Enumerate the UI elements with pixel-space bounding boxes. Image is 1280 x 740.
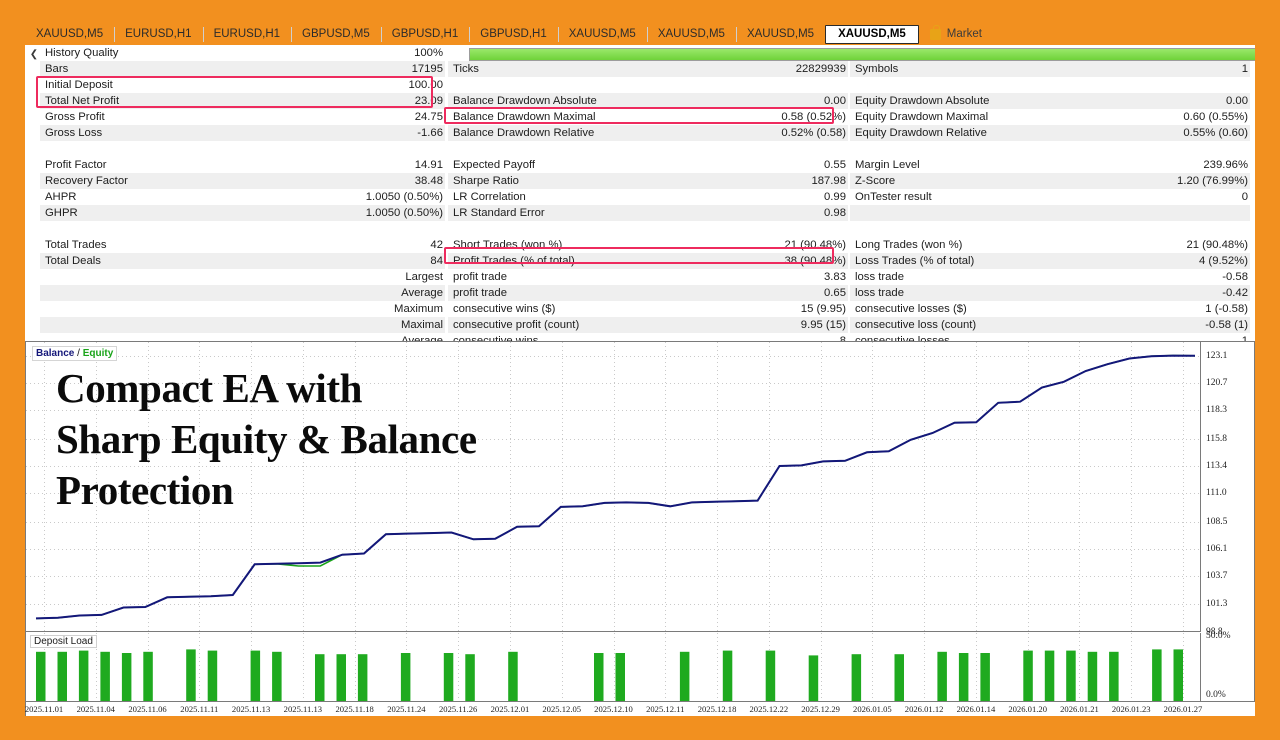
x-axis-tick: 2025.12.10 bbox=[594, 704, 633, 714]
x-axis-tick: 2025.11.24 bbox=[387, 704, 425, 714]
report-row-value: -0.42 bbox=[1222, 285, 1248, 301]
report-row-label: Loss Trades (% of total) bbox=[855, 253, 974, 269]
collapse-panel-icon[interactable]: ❮ bbox=[29, 49, 39, 61]
deposit-load-plot[interactable]: Deposit Load bbox=[26, 633, 1201, 701]
x-axis-tick: 2025.11.04 bbox=[77, 704, 115, 714]
report-row-label: Balance Drawdown Relative bbox=[453, 125, 594, 141]
x-axis-tick: 2025.11.13 bbox=[232, 704, 270, 714]
report-row-value: Maximal bbox=[401, 317, 443, 333]
report-row-value: 4 (9.52%) bbox=[1199, 253, 1248, 269]
report-row-value: 0.00 bbox=[1226, 93, 1248, 109]
report-row-label: consecutive wins bbox=[453, 333, 538, 341]
report-row-label: Total Deals bbox=[45, 253, 101, 269]
report-row-spacer bbox=[850, 45, 1250, 61]
x-axis-tick: 2025.12.01 bbox=[491, 704, 530, 714]
report-row-value: 239.96% bbox=[1203, 157, 1248, 173]
report-row: loss trade-0.58 bbox=[850, 269, 1250, 285]
report-row-label: Long Trades (won %) bbox=[855, 237, 962, 253]
report-row-label: Equity Drawdown Absolute bbox=[855, 93, 989, 109]
report-row-value: -1.66 bbox=[417, 125, 443, 141]
x-axis-tick: 2025.12.11 bbox=[646, 704, 684, 714]
report-row-spacer bbox=[850, 77, 1250, 93]
tab-8[interactable]: XAUUSD,M5 bbox=[736, 25, 825, 44]
report-row-label: consecutive profit (count) bbox=[453, 317, 579, 333]
report-row-label: Total Trades bbox=[45, 237, 107, 253]
report-row: consecutive loss (count)-0.58 (1) bbox=[850, 317, 1250, 333]
report-row: Recovery Factor38.48 bbox=[40, 173, 445, 189]
report-row-value: 0.99 bbox=[824, 189, 846, 205]
report-row: consecutive losses ($)1 (-0.58) bbox=[850, 301, 1250, 317]
tab-0[interactable]: XAUUSD,M5 bbox=[25, 25, 114, 44]
report-row: Expected Payoff0.55 bbox=[448, 157, 848, 173]
report-row: Maximal bbox=[40, 317, 445, 333]
report-row-value: 1.0050 (0.50%) bbox=[366, 189, 443, 205]
report-row-value: 0.55% (0.60) bbox=[1183, 125, 1248, 141]
report-row-label: Recovery Factor bbox=[45, 173, 128, 189]
report-row: LR Correlation0.99 bbox=[448, 189, 848, 205]
y-axis-tick: 108.5 bbox=[1206, 517, 1227, 527]
report-row: History Quality100% bbox=[40, 45, 445, 61]
report-row-label: Symbols bbox=[855, 61, 898, 77]
report-row: consecutive wins ($)15 (9.95) bbox=[448, 301, 848, 317]
report-row-label: Gross Loss bbox=[45, 125, 102, 141]
report-row-value: 0 bbox=[1242, 189, 1248, 205]
report-row: Loss Trades (% of total)4 (9.52%) bbox=[850, 253, 1250, 269]
y-axis-tick: 106.1 bbox=[1206, 544, 1227, 554]
x-axis-tick: 2025.11.11 bbox=[180, 704, 218, 714]
report-row: Equity Drawdown Absolute0.00 bbox=[850, 93, 1250, 109]
y-axis-tick: 120.7 bbox=[1206, 378, 1227, 388]
report-row-value: 0.98 bbox=[824, 205, 846, 221]
report-row-value: 1 bbox=[1242, 333, 1248, 341]
legend-separator: / bbox=[77, 348, 80, 359]
report-row-label: Margin Level bbox=[855, 157, 920, 173]
report-row-value: 1.20 (76.99%) bbox=[1177, 173, 1248, 189]
y-axis-tick: 113.4 bbox=[1206, 461, 1227, 471]
report-row-label: LR Standard Error bbox=[453, 205, 545, 221]
headline-line-1: Compact EA with bbox=[56, 363, 477, 414]
report-row-label: Initial Deposit bbox=[45, 77, 113, 93]
app-root: XAUUSD,M5 EURUSD,H1 EURUSD,H1 GBPUSD,M5 … bbox=[0, 0, 1280, 740]
report-row-value: 23.09 bbox=[415, 93, 443, 109]
report-row-value: 1.0050 (0.50%) bbox=[366, 205, 443, 221]
deposit-load-bars bbox=[26, 633, 1201, 701]
report-row: OnTester result0 bbox=[850, 189, 1250, 205]
report-row-label: Profit Trades (% of total) bbox=[453, 253, 575, 269]
deposit-load-tick-min: 0.0% bbox=[1206, 690, 1226, 700]
x-axis-tick: 2025.12.05 bbox=[542, 704, 581, 714]
report-row-label: consecutive losses ($) bbox=[855, 301, 967, 317]
x-axis-tick: 2025.12.18 bbox=[698, 704, 737, 714]
x-axis-tick: 2025.11.26 bbox=[439, 704, 477, 714]
report-row-spacer bbox=[40, 141, 445, 157]
report-row-label: consecutive loss (count) bbox=[855, 317, 976, 333]
report-row-value: 38.48 bbox=[415, 173, 443, 189]
y-axis-tick: 103.7 bbox=[1206, 571, 1227, 581]
report-row-value: 84 bbox=[430, 253, 443, 269]
report-row-label: Total Net Profit bbox=[45, 93, 119, 109]
report-row-label: Balance Drawdown Absolute bbox=[453, 93, 597, 109]
report-row: loss trade-0.42 bbox=[850, 285, 1250, 301]
report-row-value: 0.55 bbox=[824, 157, 846, 173]
y-axis-tick: 118.3 bbox=[1206, 405, 1227, 415]
x-axis-tick: 2026.01.14 bbox=[957, 704, 996, 714]
report-row: Short Trades (won %)21 (90.48%) bbox=[448, 237, 848, 253]
report-row: Margin Level239.96% bbox=[850, 157, 1250, 173]
x-axis-tick: 2026.01.23 bbox=[1112, 704, 1151, 714]
report-row: Average bbox=[40, 285, 445, 301]
report-row: consecutive profit (count)9.95 (15) bbox=[448, 317, 848, 333]
y-axis-tick: 115.8 bbox=[1206, 434, 1227, 444]
report-row-value: 0.52% (0.58) bbox=[781, 125, 846, 141]
report-row-value: 17195 bbox=[412, 61, 443, 77]
report-row: Total Deals84 bbox=[40, 253, 445, 269]
promo-headline: Compact EA with Sharp Equity & Balance P… bbox=[56, 363, 477, 516]
report-row-value: 21 (90.48%) bbox=[784, 237, 846, 253]
report-row-spacer bbox=[448, 77, 848, 93]
x-axis-tick: 2025.11.01 bbox=[25, 704, 63, 714]
report-row-label: Equity Drawdown Maximal bbox=[855, 109, 988, 125]
report-row-label: Bars bbox=[45, 61, 68, 77]
report-row-value: 0.60 (0.55%) bbox=[1183, 109, 1248, 125]
x-axis-tick: 2025.11.18 bbox=[335, 704, 373, 714]
tab-3[interactable]: GBPUSD,M5 bbox=[291, 25, 381, 44]
x-axis-tick: 2025.11.06 bbox=[128, 704, 166, 714]
report-row-value: 22829939 bbox=[796, 61, 846, 77]
report-row-label: Equity Drawdown Relative bbox=[855, 125, 987, 141]
tab-2[interactable]: EURUSD,H1 bbox=[203, 25, 291, 44]
report-row-value: 21 (90.48%) bbox=[1186, 237, 1248, 253]
report-row: Largest bbox=[40, 269, 445, 285]
report-row-label: consecutive losses bbox=[855, 333, 950, 341]
report-row: Equity Drawdown Relative0.55% (0.60) bbox=[850, 125, 1250, 141]
report-row-label: Ticks bbox=[453, 61, 479, 77]
report-row-spacer bbox=[448, 45, 848, 61]
report-row-spacer bbox=[850, 221, 1250, 237]
report-row: Maximum bbox=[40, 301, 445, 317]
backtest-report-panel: History Quality100%Bars17195Initial Depo… bbox=[25, 45, 1255, 341]
report-row: Gross Loss-1.66 bbox=[40, 125, 445, 141]
report-row-label: Short Trades (won %) bbox=[453, 237, 562, 253]
report-row-value: 1 bbox=[1242, 61, 1248, 77]
report-row: Profit Trades (% of total)38 (90.48%) bbox=[448, 253, 848, 269]
report-row-value: 8 bbox=[840, 333, 846, 341]
report-row: Long Trades (won %)21 (90.48%) bbox=[850, 237, 1250, 253]
report-row-label: profit trade bbox=[453, 269, 507, 285]
tab-market-label: Market bbox=[947, 27, 982, 42]
lock-icon bbox=[930, 29, 941, 40]
report-row-label: Sharpe Ratio bbox=[453, 173, 519, 189]
report-row: profit trade3.83 bbox=[448, 269, 848, 285]
report-row-label: Z-Score bbox=[855, 173, 895, 189]
report-row: GHPR1.0050 (0.50%) bbox=[40, 205, 445, 221]
report-row: profit trade0.65 bbox=[448, 285, 848, 301]
y-axis: 123.1120.7118.3115.8113.4111.0108.5106.1… bbox=[1202, 342, 1255, 701]
report-row-value: 0.58 (0.52%) bbox=[781, 109, 846, 125]
report-column-3: Symbols1Equity Drawdown Absolute0.00Equi… bbox=[850, 45, 1250, 341]
report-row: Equity Drawdown Maximal0.60 (0.55%) bbox=[850, 109, 1250, 125]
report-row-value: 187.98 bbox=[811, 173, 846, 189]
report-columns: History Quality100%Bars17195Initial Depo… bbox=[25, 45, 1255, 341]
report-row-label: Profit Factor bbox=[45, 157, 107, 173]
report-column-1: History Quality100%Bars17195Initial Depo… bbox=[40, 45, 445, 341]
x-axis: 2025.11.012025.11.042025.11.062025.11.11… bbox=[26, 701, 1255, 716]
report-row: Balance Drawdown Absolute0.00 bbox=[448, 93, 848, 109]
tab-9-active[interactable]: XAUUSD,M5 bbox=[825, 25, 919, 44]
report-row-label: GHPR bbox=[45, 205, 78, 221]
report-row: LR Standard Error0.98 bbox=[448, 205, 848, 221]
report-row-spacer bbox=[850, 141, 1250, 157]
tab-7[interactable]: XAUUSD,M5 bbox=[647, 25, 736, 44]
headline-line-2: Sharp Equity & Balance bbox=[56, 414, 477, 465]
tab-1[interactable]: EURUSD,H1 bbox=[114, 25, 202, 44]
y-axis-tick: 111.0 bbox=[1206, 488, 1227, 498]
x-axis-tick: 2026.01.12 bbox=[905, 704, 944, 714]
report-row-spacer bbox=[40, 221, 445, 237]
report-row-value: -0.58 (1) bbox=[1205, 317, 1248, 333]
report-row: AHPR1.0050 (0.50%) bbox=[40, 189, 445, 205]
report-row-label: loss trade bbox=[855, 285, 904, 301]
report-row-spacer bbox=[850, 205, 1250, 221]
report-row: consecutive wins8 bbox=[448, 333, 848, 341]
report-row-label: OnTester result bbox=[855, 189, 932, 205]
headline-line-3: Protection bbox=[56, 465, 477, 516]
report-row-label: loss trade bbox=[855, 269, 904, 285]
report-row: Bars17195 bbox=[40, 61, 445, 77]
report-row-value: Average bbox=[401, 333, 443, 341]
report-row: Ticks22829939 bbox=[448, 61, 848, 77]
x-axis-tick: 2025.12.22 bbox=[749, 704, 788, 714]
report-row-label: Gross Profit bbox=[45, 109, 105, 125]
tab-6[interactable]: XAUUSD,M5 bbox=[558, 25, 647, 44]
balance-equity-plot[interactable]: EaForex Compact EA with Sharp Equity & B… bbox=[26, 342, 1201, 632]
report-row-value: 100.00 bbox=[408, 77, 443, 93]
report-row-value: -0.58 bbox=[1222, 269, 1248, 285]
x-axis-tick: 2025.12.29 bbox=[801, 704, 840, 714]
tab-4[interactable]: GBPUSD,H1 bbox=[381, 25, 469, 44]
report-row-value: Maximum bbox=[394, 301, 443, 317]
deposit-load-legend: Deposit Load bbox=[30, 635, 97, 648]
report-row-value: Average bbox=[401, 285, 443, 301]
equity-chart[interactable]: EaForex Compact EA with Sharp Equity & B… bbox=[25, 341, 1255, 716]
tab-market[interactable]: Market bbox=[919, 25, 993, 44]
report-row: Balance Drawdown Relative0.52% (0.58) bbox=[448, 125, 848, 141]
report-row: Symbols1 bbox=[850, 61, 1250, 77]
y-axis-tick: 123.1 bbox=[1206, 351, 1227, 361]
report-row-spacer bbox=[448, 141, 848, 157]
report-row-label: Balance Drawdown Maximal bbox=[453, 109, 596, 125]
x-axis-tick: 2026.01.21 bbox=[1060, 704, 1099, 714]
x-axis-tick: 2026.01.05 bbox=[853, 704, 892, 714]
report-column-2: Ticks22829939Balance Drawdown Absolute0.… bbox=[448, 45, 848, 341]
report-row-label: AHPR bbox=[45, 189, 76, 205]
report-row-value: 3.83 bbox=[824, 269, 846, 285]
report-row: Total Trades42 bbox=[40, 237, 445, 253]
report-row: Average bbox=[40, 333, 445, 341]
chart-series-legend: Balance / Equity bbox=[32, 346, 117, 361]
report-row: consecutive losses1 bbox=[850, 333, 1250, 341]
legend-equity: Equity bbox=[83, 348, 114, 359]
report-row-label: LR Correlation bbox=[453, 189, 526, 205]
y-axis-tick: 101.3 bbox=[1206, 599, 1227, 609]
report-row-value: 38 (90.48%) bbox=[784, 253, 846, 269]
x-axis-tick: 2025.11.13 bbox=[284, 704, 322, 714]
report-row-value: 42 bbox=[430, 237, 443, 253]
report-row-label: History Quality bbox=[45, 45, 118, 61]
tab-5[interactable]: GBPUSD,H1 bbox=[469, 25, 557, 44]
report-row: Initial Deposit100.00 bbox=[40, 77, 445, 93]
legend-balance: Balance bbox=[36, 348, 74, 359]
report-row-value: 0.00 bbox=[824, 93, 846, 109]
report-row-value: 100% bbox=[414, 45, 443, 61]
report-row-label: profit trade bbox=[453, 285, 507, 301]
report-row-value: 0.65 bbox=[824, 285, 846, 301]
report-row: Z-Score1.20 (76.99%) bbox=[850, 173, 1250, 189]
report-row-label: Expected Payoff bbox=[453, 157, 535, 173]
report-row-value: 1 (-0.58) bbox=[1205, 301, 1248, 317]
chart-tabstrip[interactable]: XAUUSD,M5 EURUSD,H1 EURUSD,H1 GBPUSD,M5 … bbox=[25, 24, 1255, 45]
report-row-value: 14.91 bbox=[415, 157, 443, 173]
deposit-load-tick-max: 50.0% bbox=[1206, 631, 1231, 641]
report-row-spacer bbox=[448, 221, 848, 237]
x-axis-tick: 2026.01.27 bbox=[1164, 704, 1203, 714]
report-row: Sharpe Ratio187.98 bbox=[448, 173, 848, 189]
report-row-value: 24.75 bbox=[415, 109, 443, 125]
report-row: Gross Profit24.75 bbox=[40, 109, 445, 125]
report-row-value: Largest bbox=[405, 269, 443, 285]
x-axis-tick: 2026.01.20 bbox=[1008, 704, 1047, 714]
report-row-label: consecutive wins ($) bbox=[453, 301, 555, 317]
report-row: Balance Drawdown Maximal0.58 (0.52%) bbox=[448, 109, 848, 125]
report-row: Total Net Profit23.09 bbox=[40, 93, 445, 109]
report-row: Profit Factor14.91 bbox=[40, 157, 445, 173]
report-row-value: 9.95 (15) bbox=[801, 317, 846, 333]
report-row-value: 15 (9.95) bbox=[801, 301, 846, 317]
